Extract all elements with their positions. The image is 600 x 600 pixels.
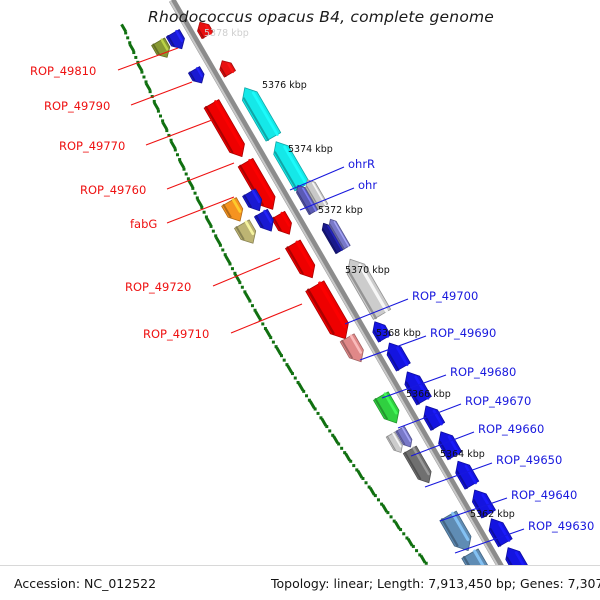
page-title: Rhodococcus opacus B4, complete genome [148,8,494,26]
ruler-tick-label: 5362 kbp [470,509,515,520]
gene-label[interactable]: fabG [130,217,157,231]
gene-red-long-3[interactable] [286,240,315,278]
gene-label[interactable]: ROP_49670 [465,394,531,408]
gene-blue-8[interactable] [489,519,512,547]
ruler-tick-label: 5376 kbp [262,80,307,91]
gene-blue-4[interactable] [424,406,445,430]
gene-blue-2[interactable] [387,343,410,371]
accession-text: Accession: NC_012522 [14,576,156,591]
gene-darkgray-1[interactable] [403,446,431,483]
ruler-tick-label: 5366 kbp [406,389,451,400]
gene-label[interactable]: ROP_49810 [30,64,96,78]
ruler-tick-label: 5370 kbp [345,265,390,276]
gene-label[interactable]: ROP_49700 [412,289,478,303]
gene-label[interactable]: ROP_49760 [80,183,146,197]
label-leader-line [131,82,192,105]
label-leader-line [118,48,178,70]
gene-steelblue-1[interactable] [440,511,471,550]
label-leader-line [213,258,280,286]
kbp-ruler-track [122,24,476,600]
gene-label[interactable]: ROP_49710 [143,327,209,341]
gene-red-mid[interactable] [272,211,292,234]
gene-navy-mid2[interactable] [254,209,273,231]
gene-label[interactable]: ROP_49680 [450,365,516,379]
gene-label[interactable]: ROP_49630 [528,519,594,533]
gene-label[interactable]: ROP_49640 [511,488,577,502]
gene-navy-top2[interactable] [188,67,204,83]
gene-red-arrow-2[interactable] [220,61,236,77]
gene-label[interactable]: ohrR [348,157,375,171]
ruler-tick-label: 5364 kbp [440,449,485,460]
gene-label[interactable]: ROP_49790 [44,99,110,113]
topology-text: Topology: linear; Length: 7,913,450 bp; … [271,576,600,591]
gene-label[interactable]: ROP_49690 [430,326,496,340]
label-leader-line [167,163,234,189]
gene-label[interactable]: ohr [358,178,377,192]
gene-label[interactable]: ROP_49660 [478,422,544,436]
ruler-tick-label: 5374 kbp [288,144,333,155]
ruler-tick-label: 5378 kbp [204,28,249,39]
label-leader-line [146,120,212,145]
gene-label[interactable]: ROP_49770 [59,139,125,153]
ruler-tick-label: 5372 kbp [318,205,363,216]
ruler-tick-label: 5368 kbp [376,328,421,339]
status-bar: Accession: NC_012522 Topology: linear; L… [0,565,600,600]
gene-label[interactable]: ROP_49720 [125,280,191,294]
gene-ohr-khaki[interactable] [235,220,256,244]
gene-label[interactable]: ROP_49650 [496,453,562,467]
genome-map-canvas[interactable]: Rhodococcus opacus B4, complete genome 5… [0,0,600,600]
